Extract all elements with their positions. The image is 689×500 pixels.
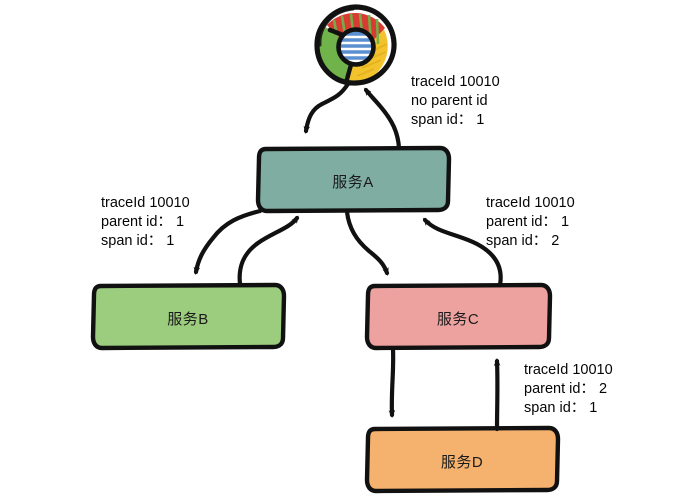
annotation-line: traceId 10010 (524, 361, 613, 380)
node-service-d[interactable] (367, 428, 558, 491)
annotation-line: span id： 1 (524, 399, 613, 418)
annotation-service-c-span: traceId 10010 parent id： 1 span id： 2 (486, 194, 575, 251)
edge-client-to-a (306, 84, 348, 131)
edge-a-to-client (366, 90, 399, 148)
annotation-line: no parent id (411, 92, 500, 111)
annotation-root-span: traceId 10010 no parent id span id： 1 (411, 73, 500, 130)
annotation-line: traceId 10010 (411, 73, 500, 92)
annotation-line: traceId 10010 (101, 194, 190, 213)
edge-b-to-a (240, 218, 297, 284)
annotation-line: parent id： 1 (101, 213, 190, 232)
annotation-line: span id： 2 (486, 232, 575, 251)
annotation-line: span id： 1 (101, 232, 190, 251)
node-service-b[interactable] (93, 285, 284, 348)
edge-c-to-d (392, 349, 393, 415)
annotation-line: parent id： 1 (486, 213, 575, 232)
node-service-c[interactable] (367, 285, 550, 348)
diagram-canvas: 服务A 服务B 服务C 服务D traceId 10010 no parent … (0, 0, 689, 500)
annotation-service-d-span: traceId 10010 parent id： 2 span id： 1 (524, 361, 613, 418)
annotation-line: traceId 10010 (486, 194, 575, 213)
chrome-browser-icon (317, 7, 394, 84)
edge-a-to-c (347, 212, 387, 273)
annotation-line: span id： 1 (411, 111, 500, 130)
edge-a-to-b (196, 211, 260, 272)
annotation-service-b-span: traceId 10010 parent id： 1 span id： 1 (101, 194, 190, 251)
node-service-a[interactable] (258, 148, 449, 211)
annotation-line: parent id： 2 (524, 380, 613, 399)
